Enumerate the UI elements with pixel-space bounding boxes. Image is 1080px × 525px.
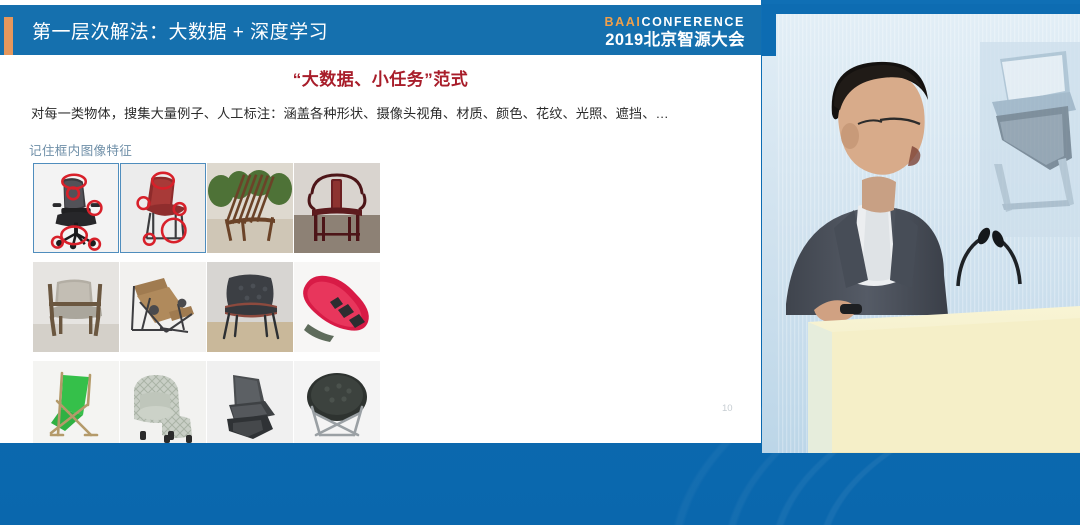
gallery-row xyxy=(33,262,433,352)
gallery-item-wooden-slat-lounge-chair[interactable] xyxy=(207,163,293,253)
gallery-item-tan-zero-gravity-recliner[interactable] xyxy=(120,262,206,352)
thumbnail-image xyxy=(34,164,118,252)
gallery-item-dark-grey-tufted-lounge-chair[interactable] xyxy=(207,262,293,352)
video-frame xyxy=(762,4,1080,453)
thumbnail-image xyxy=(294,262,380,352)
thumbnail-image xyxy=(294,361,380,443)
chair-image-gallery xyxy=(33,163,433,443)
logo-year-line: 2019北京智源大会 xyxy=(605,32,745,49)
slide-title: 第一层次解法：大数据 + 深度学习 xyxy=(32,18,328,48)
baai-conference-logo: BAAICONFERENCE 2019北京智源大会 xyxy=(605,16,745,48)
gallery-item-red-shell-sled-chair[interactable] xyxy=(120,163,206,253)
thumbnail-image xyxy=(294,163,380,253)
logo-top-line: BAAICONFERENCE xyxy=(605,16,745,29)
thumbnail-image xyxy=(121,164,205,252)
thumbnail-image xyxy=(207,361,293,443)
screen-capture: 第一层次解法：大数据 + 深度学习 BAAICONFERENCE 2019北京智… xyxy=(0,0,1080,525)
conference-stage-video xyxy=(762,4,1080,453)
section-title: “大数据、小任务”范式 xyxy=(0,65,761,90)
thumbnail-image xyxy=(120,361,206,443)
gallery-item-patterned-tub-chair-with-ottoman[interactable] xyxy=(120,361,206,443)
thumbnail-image xyxy=(120,262,206,352)
gallery-item-dark-saucer-moon-chair[interactable] xyxy=(294,361,380,443)
presentation-slide: 第一层次解法：大数据 + 深度学习 BAAICONFERENCE 2019北京智… xyxy=(0,0,761,443)
logo-brand-text: BAAI xyxy=(605,15,642,29)
thumbnail-image xyxy=(33,262,119,352)
logo-conference-text: CONFERENCE xyxy=(641,15,745,29)
gallery-item-faceted-grey-origami-chair[interactable] xyxy=(207,361,293,443)
thumbnail-image xyxy=(207,262,293,352)
slide-number: 10 xyxy=(722,403,733,414)
gallery-item-grey-upholstered-wood-armchair[interactable] xyxy=(33,262,119,352)
thumbnail-image xyxy=(33,361,119,443)
gallery-item-chinese-rosewood-armchair[interactable] xyxy=(294,163,380,253)
gallery-item-green-canvas-deck-chair[interactable] xyxy=(33,361,119,443)
gallery-row xyxy=(33,163,433,253)
orange-accent-bar xyxy=(4,17,13,58)
body-paragraph: 对每一类物体，搜集大量例子、人工标注：涵盖各种形状、摄像头视角、材质、颜色、花纹… xyxy=(31,103,669,122)
gallery-item-red-massage-chair[interactable] xyxy=(294,262,380,352)
slide-content-area: “大数据、小任务”范式 对每一类物体，搜集大量例子、人工标注：涵盖各种形状、摄像… xyxy=(0,55,761,443)
slide-header-bar: 第一层次解法：大数据 + 深度学习 BAAICONFERENCE 2019北京智… xyxy=(0,5,761,55)
gallery-row xyxy=(33,361,433,443)
thumbnail-image xyxy=(207,163,293,253)
gallery-caption: 记住框内图像特征 xyxy=(29,140,132,159)
gallery-item-black-mesh-office-chair[interactable] xyxy=(33,163,119,253)
